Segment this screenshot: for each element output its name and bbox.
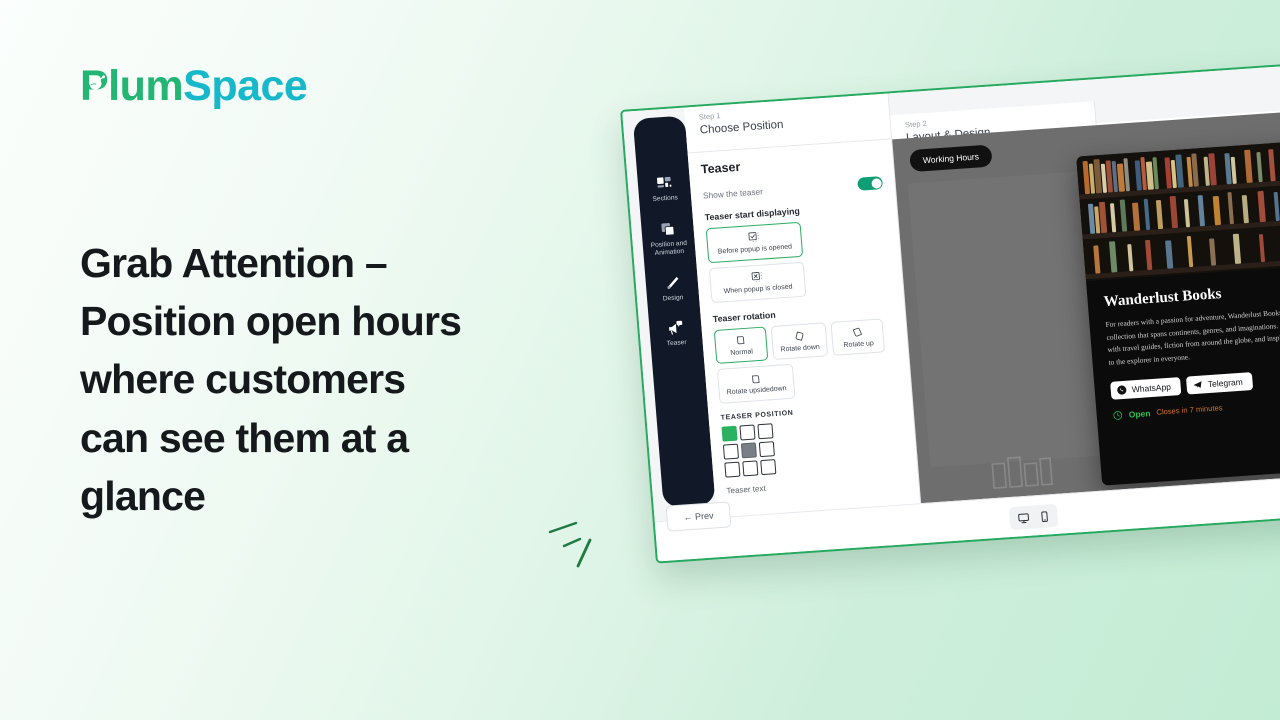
clock-icon (1112, 410, 1123, 421)
plum-seed-icon (87, 74, 106, 93)
desktop-icon[interactable] (1014, 509, 1032, 527)
status-open-label: Open (1128, 408, 1150, 419)
option-rotate-upsidedown[interactable]: Rotate upsidedown (717, 364, 796, 404)
option-label: Normal (723, 347, 760, 358)
brand-name-secondary: Space (183, 62, 307, 111)
popup-description: For readers with a passion for adventure… (1105, 301, 1280, 370)
marketing-column: Plum Space Grab Attention – Position ope… (80, 62, 550, 525)
brand-logo: Plum Space (80, 62, 550, 111)
option-label: Rotate down (780, 343, 820, 354)
layers-icon (643, 219, 692, 239)
sidebar-item-teaser[interactable]: Teaser (651, 318, 701, 350)
bookshelf-image (1076, 137, 1280, 282)
rotate-normal-icon (722, 333, 759, 348)
option-label: Rotate upsidedown (727, 385, 787, 398)
prev-button[interactable]: ← Prev (666, 501, 732, 531)
option-when-popup-is-closed[interactable]: When popup is closed (709, 261, 807, 302)
option-normal[interactable]: Normal (714, 326, 769, 364)
position-cell-middle-left[interactable] (723, 444, 739, 460)
page-title: Grab Attention – Position open hours whe… (80, 234, 480, 525)
sections-icon (639, 174, 688, 194)
position-cell-top-center[interactable] (739, 424, 755, 440)
whatsapp-icon (1116, 385, 1127, 396)
placeholder-illustration (988, 452, 1057, 490)
position-cell-middle-right[interactable] (759, 441, 775, 457)
sidebar-item-design[interactable]: Design (647, 273, 697, 305)
sidebar-item-label: Sections (641, 193, 690, 205)
speed-lines-decoration (548, 510, 618, 580)
chip-label: WhatsApp (1131, 382, 1171, 395)
position-cell-bottom-center[interactable] (742, 460, 758, 476)
working-hours-popup: Wanderlust Books For readers with a pass… (1076, 137, 1280, 486)
megaphone-icon (651, 318, 700, 338)
sidebar-item-position-and-animation[interactable]: Position and Animation (643, 219, 694, 259)
teaser-settings-panel: Teaser Show the teaser Teaser start disp… (688, 139, 922, 521)
sidebar-item-label: Design (649, 293, 698, 305)
option-before-popup-is-opened[interactable]: Before popup is opened (706, 222, 804, 263)
option-label: Rotate up (840, 339, 877, 350)
option-rotate-up[interactable]: Rotate up (831, 318, 886, 356)
whatsapp-button[interactable]: WhatsApp (1110, 377, 1181, 400)
popup-title: Wanderlust Books (1103, 276, 1280, 311)
mobile-icon[interactable] (1035, 507, 1053, 525)
status-detail-label: Closes in 7 minutes (1156, 404, 1223, 418)
contact-chips: WhatsApp Telegram (1110, 364, 1280, 400)
device-frame: Sections Position and Animation (620, 58, 1280, 564)
rotate-upsidedown-icon (725, 370, 786, 387)
preview-stage: Working Hours (892, 106, 1280, 508)
working-hours-teaser[interactable]: Working Hours (909, 145, 993, 173)
rotate-down-icon (779, 328, 819, 344)
panel-title: Teaser (700, 150, 881, 176)
app-mockup: Sections Position and Animation (620, 58, 1280, 579)
show-teaser-toggle[interactable] (857, 176, 883, 191)
position-cell-bottom-right[interactable] (760, 459, 776, 475)
telegram-icon (1192, 379, 1203, 390)
sidebar-item-label: Teaser (652, 338, 701, 350)
position-cell-bottom-left[interactable] (724, 462, 740, 478)
chip-label: Telegram (1207, 377, 1243, 389)
position-cell-middle-center[interactable] (741, 442, 757, 458)
brush-icon (647, 273, 696, 293)
position-cell-top-right[interactable] (757, 423, 773, 439)
rotate-up-icon (839, 324, 876, 339)
show-teaser-label: Show the teaser (703, 186, 764, 200)
option-rotate-down[interactable]: Rotate down (771, 322, 829, 360)
rotation-options: Normal Rotate down Rotate up (714, 317, 899, 404)
teaser-text-label: Teaser text (726, 474, 906, 495)
device-preview-toggle (1009, 504, 1059, 530)
sidebar-item-sections[interactable]: Sections (639, 174, 689, 206)
sidebar-item-label: Position and Animation (645, 239, 694, 259)
teaser-position-grid (721, 414, 905, 477)
start-displaying-options: Before popup is opened When popup is clo… (706, 216, 891, 303)
position-cell-top-left[interactable] (721, 426, 737, 442)
telegram-button[interactable]: Telegram (1186, 372, 1253, 394)
